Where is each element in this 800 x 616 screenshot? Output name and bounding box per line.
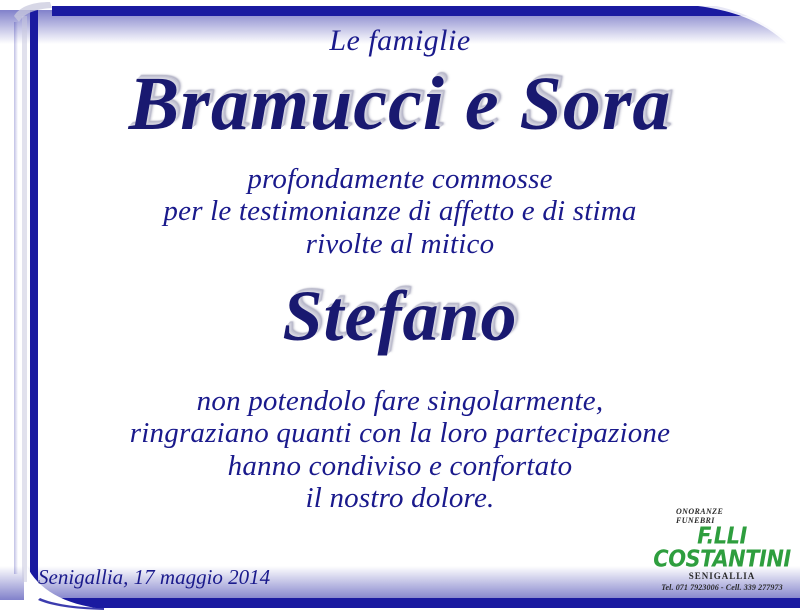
- notice-content: Le famiglie Bramucci e Sora profondament…: [44, 14, 756, 586]
- funeral-home-logo: ONORANZE FUNEBRI F.LLI COSTANTINI SENIGA…: [652, 508, 792, 592]
- paragraph-top-line-2: per le testimonianze di affetto e di sti…: [44, 195, 756, 227]
- paragraph-top: profondamente commosse per le testimonia…: [44, 163, 756, 260]
- memorial-notice-card: Le famiglie Bramucci e Sora profondament…: [0, 0, 800, 616]
- paragraph-bottom: non potendolo fare singolarmente, ringra…: [44, 385, 756, 515]
- logo-line-onoranze: ONORANZE: [652, 508, 792, 516]
- place-and-date: Senigallia, 17 maggio 2014: [38, 565, 270, 590]
- logo-company-name: F.LLI COSTANTINI: [652, 525, 792, 571]
- paragraph-bottom-line-4: il nostro dolore.: [44, 482, 756, 514]
- paragraph-top-line-1: profondamente commosse: [44, 163, 756, 195]
- deceased-name: Stefano: [44, 276, 756, 357]
- paragraph-bottom-line-2: ringraziano quanti con la loro partecipa…: [44, 417, 756, 449]
- intro-line: Le famiglie: [44, 24, 756, 58]
- families-name: Bramucci e Sora: [44, 62, 756, 147]
- paragraph-top-line-3: rivolte al mitico: [44, 228, 756, 260]
- logo-phone-numbers: Tel. 071 7923006 - Cell. 339 277973: [652, 584, 792, 592]
- paragraph-bottom-line-1: non potendolo fare singolarmente,: [44, 385, 756, 417]
- logo-city: SENIGALLIA: [652, 572, 792, 581]
- paragraph-bottom-line-3: hanno condiviso e confortato: [44, 450, 756, 482]
